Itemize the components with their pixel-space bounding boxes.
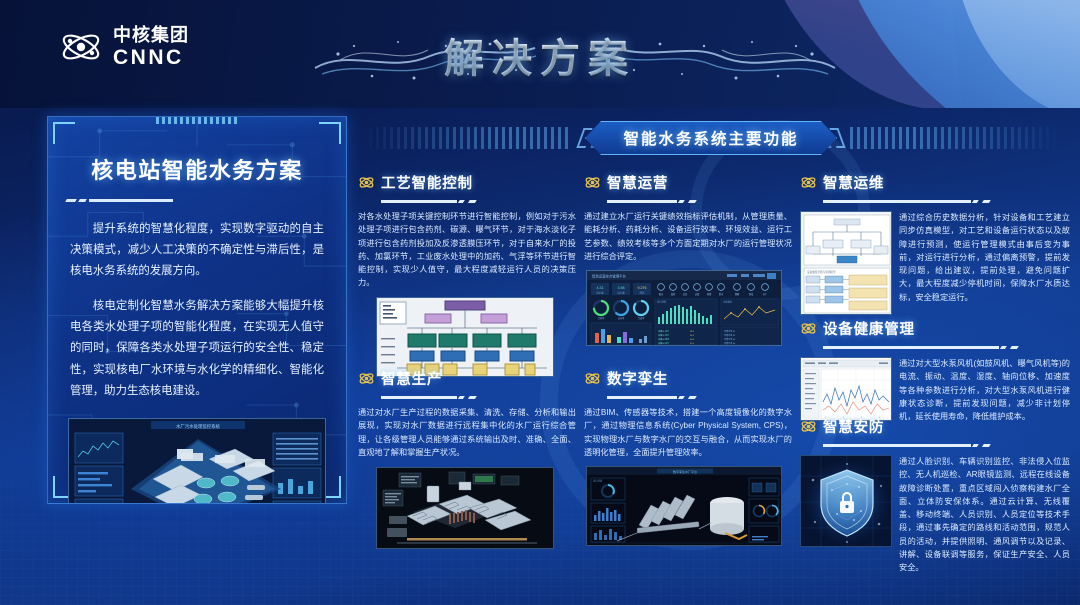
- atom-bullet-icon: [584, 370, 601, 387]
- feature-rule: [823, 197, 1070, 205]
- page-title: 解决方案: [0, 26, 1080, 84]
- feature-body: 通过建立水厂运行关键绩效指标评估机制，从管理质量、能耗分析、药耗分析、设备运行效…: [584, 210, 792, 263]
- feature-header: 数字孪生: [584, 368, 792, 389]
- feature-body: 通过对大型水泵风机(如鼓风机、曝气风机等)的电流、振动、温度、湿度、轴向位移、加…: [899, 357, 1070, 423]
- feature-header: 智慧运维: [800, 172, 1070, 193]
- svg-text:4.31: 4.31: [597, 286, 604, 290]
- banner-wing-left: [362, 127, 572, 149]
- feature-header: 智慧生产: [358, 368, 576, 389]
- solution-dashboard-image: 水厂污水处理监控系统: [68, 418, 326, 504]
- feature-rule: [381, 197, 576, 205]
- feature-header: 设备健康管理: [800, 318, 1070, 339]
- feature-thumbnail-maintenance-model-diagram[interactable]: 设备故障诊断与预测模型: [800, 211, 892, 315]
- section-banner: 智能水务系统主要功能: [356, 121, 1066, 155]
- atom-bullet-icon: [358, 370, 375, 387]
- feature-title: 智慧运营: [607, 172, 668, 193]
- page-header: 中核集团 CNNC 解决方案: [0, 0, 1080, 108]
- solution-panel-title: 核电站智能水务方案: [48, 153, 346, 185]
- feature-title: 工艺智能控制: [381, 172, 473, 193]
- svg-text:水厂污水处理监控系统: 水厂污水处理监控系统: [176, 423, 221, 430]
- feature-smart-maintenance[interactable]: 智慧运维: [800, 172, 1070, 315]
- feature-smart-security[interactable]: 智慧安防: [800, 416, 1070, 575]
- feature-content-row: 设备故障诊断与预测模型 通过综合历史数据分析，针对设备和工艺建立同步仿真: [800, 211, 1070, 315]
- feature-rule: [607, 393, 792, 401]
- feature-body: 通过BIM、传感器等技术，搭建一个高度镜像化的数字水厂，通过物理信息系统(Cyb…: [584, 406, 792, 459]
- feature-smart-production[interactable]: 智慧生产 通过对水厂生产过程的数据采集、清洗、存储、分析和输出展现，实现对水厂数…: [358, 368, 576, 549]
- svg-text:出水量: 出水量: [617, 291, 625, 295]
- panel-corner-tl: [53, 122, 75, 144]
- feature-title: 数字孪生: [607, 368, 668, 389]
- feature-digital-twin[interactable]: 数字孪生 通过BIM、传感器等技术，搭建一个高度镜像化的数字水厂，通过物理信息系…: [584, 368, 792, 546]
- atom-bullet-icon: [584, 174, 601, 191]
- feature-title: 设备健康管理: [823, 318, 915, 339]
- feature-grid: 工艺智能控制 对各水处理子项关键控制环节进行智能控制，例如对于污水处理子项进行包…: [356, 168, 1072, 588]
- feature-content-row: 1234 通过对大型水泵风机(如鼓风机、曝气风机等)的电流、振动、温度、湿度、轴…: [800, 357, 1070, 423]
- feature-process-intelligent-control[interactable]: 工艺智能控制 对各水处理子项关键控制环节进行智能控制，例如对于污水处理子项进行包…: [358, 172, 576, 377]
- svg-text:9.276: 9.276: [638, 286, 647, 290]
- svg-text:设备故障诊断与预测模型: 设备故障诊断与预测模型: [807, 270, 836, 274]
- feature-rule: [607, 197, 792, 205]
- atom-bullet-icon: [800, 320, 817, 337]
- feature-body: 通过人脸识别、车辆识别监控、非法侵入位监控、无人机巡检、AR眼镜监测、远程在线设…: [899, 455, 1070, 575]
- feature-title: 智慧安防: [823, 416, 884, 437]
- atom-bullet-icon: [800, 174, 817, 191]
- feature-body: 通过综合历史数据分析，针对设备和工艺建立同步仿真模型，对工艺和设备运行状态以及故…: [899, 211, 1070, 315]
- feature-content-row: 通过人脸识别、车辆识别监控、非法侵入位监控、无人机巡检、AR眼镜监测、远程在线设…: [800, 455, 1070, 575]
- title-underline-deco: [66, 196, 176, 205]
- feature-body: 对各水处理子项关键控制环节进行智能控制，例如对于污水处理子项进行包含药剂、碳源、…: [358, 210, 576, 290]
- feature-smart-operation[interactable]: 智慧运营 通过建立水厂运行关键绩效指标评估机制，从管理质量、能耗分析、药耗分析、…: [584, 172, 792, 346]
- feature-rule: [823, 343, 1070, 351]
- feature-header: 工艺智能控制: [358, 172, 576, 193]
- solution-panel: 核电站智能水务方案 提升系统的智慧化程度，实现数字驱动的自主决策模式，减少人工决…: [47, 116, 347, 504]
- solution-paragraph-2: 核电定制化智慧水务解决方案能够大幅提升核电各类水处理子项的智能化程度，在实现无人…: [70, 296, 324, 401]
- feature-header: 智慧安防: [800, 416, 1070, 437]
- section-banner-label: 智能水务系统主要功能: [623, 127, 798, 149]
- feature-thumbnail-digital-twin-3d-view[interactable]: 数字孪生水厂平台 运行状态: [586, 466, 782, 546]
- svg-text:进水量: 进水量: [596, 291, 604, 295]
- feature-thumbnail-operations-dashboard[interactable]: 智慧运营综合管理平台 4.31进水量 3.98出水量 9.276能耗: [586, 270, 782, 346]
- feature-body: 通过对水厂生产过程的数据采集、清洗、存储、分析和输出展现，实现对水厂数据进行远程…: [358, 406, 576, 459]
- svg-text:智慧运营综合管理平台: 智慧运营综合管理平台: [592, 274, 627, 279]
- banner-core: 智能水务系统主要功能: [585, 121, 837, 155]
- banner-wing-right: [850, 127, 1060, 149]
- feature-thumbnail-equipment-health-chart[interactable]: 1234: [800, 357, 892, 421]
- svg-text:能耗: 能耗: [640, 291, 645, 295]
- atom-bullet-icon: [358, 174, 375, 191]
- feature-title: 智慧运维: [823, 172, 884, 193]
- feature-thumbnail-process-control-flow-diagram[interactable]: [376, 297, 554, 377]
- feature-rule: [823, 441, 1070, 449]
- feature-thumbnail-plant-3d-layout[interactable]: [376, 467, 554, 549]
- solution-paragraph-1: 提升系统的智慧化程度，实现数字驱动的自主决策模式，减少人工决策的不确定性与滞后性…: [70, 219, 324, 282]
- svg-text:数字孪生水厂平台: 数字孪生水厂平台: [673, 469, 697, 474]
- panel-corner-tr: [319, 122, 341, 144]
- atom-bullet-icon: [800, 418, 817, 435]
- feature-rule: [381, 393, 576, 401]
- feature-title: 智慧生产: [381, 368, 442, 389]
- feature-header: 智慧运营: [584, 172, 792, 193]
- poster-root: 中核集团 CNNC 解决方案: [0, 0, 1080, 605]
- panel-top-notch: [156, 117, 240, 124]
- feature-equipment-health-management[interactable]: 设备健康管理 1234: [800, 318, 1070, 423]
- svg-text:3.98: 3.98: [618, 286, 625, 290]
- feature-thumbnail-security-shield-icon-image[interactable]: [800, 455, 892, 547]
